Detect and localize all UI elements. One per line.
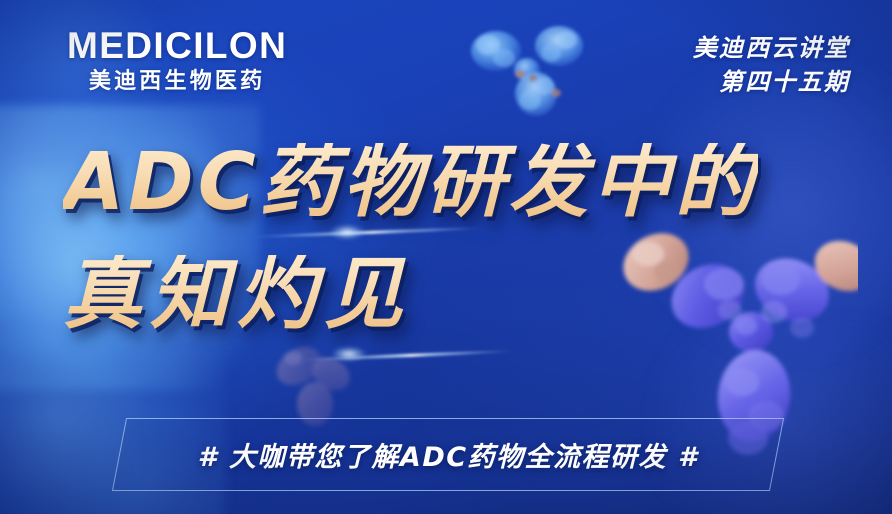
light-streak-lower [300,349,515,361]
subtitle-text: # 大咖带您了解ADC药物全流程研发 # [119,418,777,491]
brand-logo: MEDICILON 美迪西生物医药 [67,27,287,93]
series-episode: 第四十五期 [693,65,850,99]
main-title: ADC药物研发中的 真知灼见 [63,143,758,334]
series-name: 美迪西云讲堂 [693,31,850,65]
brand-logo-chinese-name: 美迪西生物医药 [67,71,287,93]
main-title-line-2: 真知灼见 [63,255,758,334]
main-title-line-1: ADC药物研发中的 [63,143,758,222]
brand-logo-wordmark: MEDICILON [67,27,287,64]
webinar-promo-banner: MEDICILON 美迪西生物医药 美迪西云讲堂 第四十五期 ADC药物研发中的… [0,0,892,514]
series-info: 美迪西云讲堂 第四十五期 [693,31,850,99]
light-flare-core-lower [332,347,366,361]
antibody-molecule-icon-small [462,14,590,132]
